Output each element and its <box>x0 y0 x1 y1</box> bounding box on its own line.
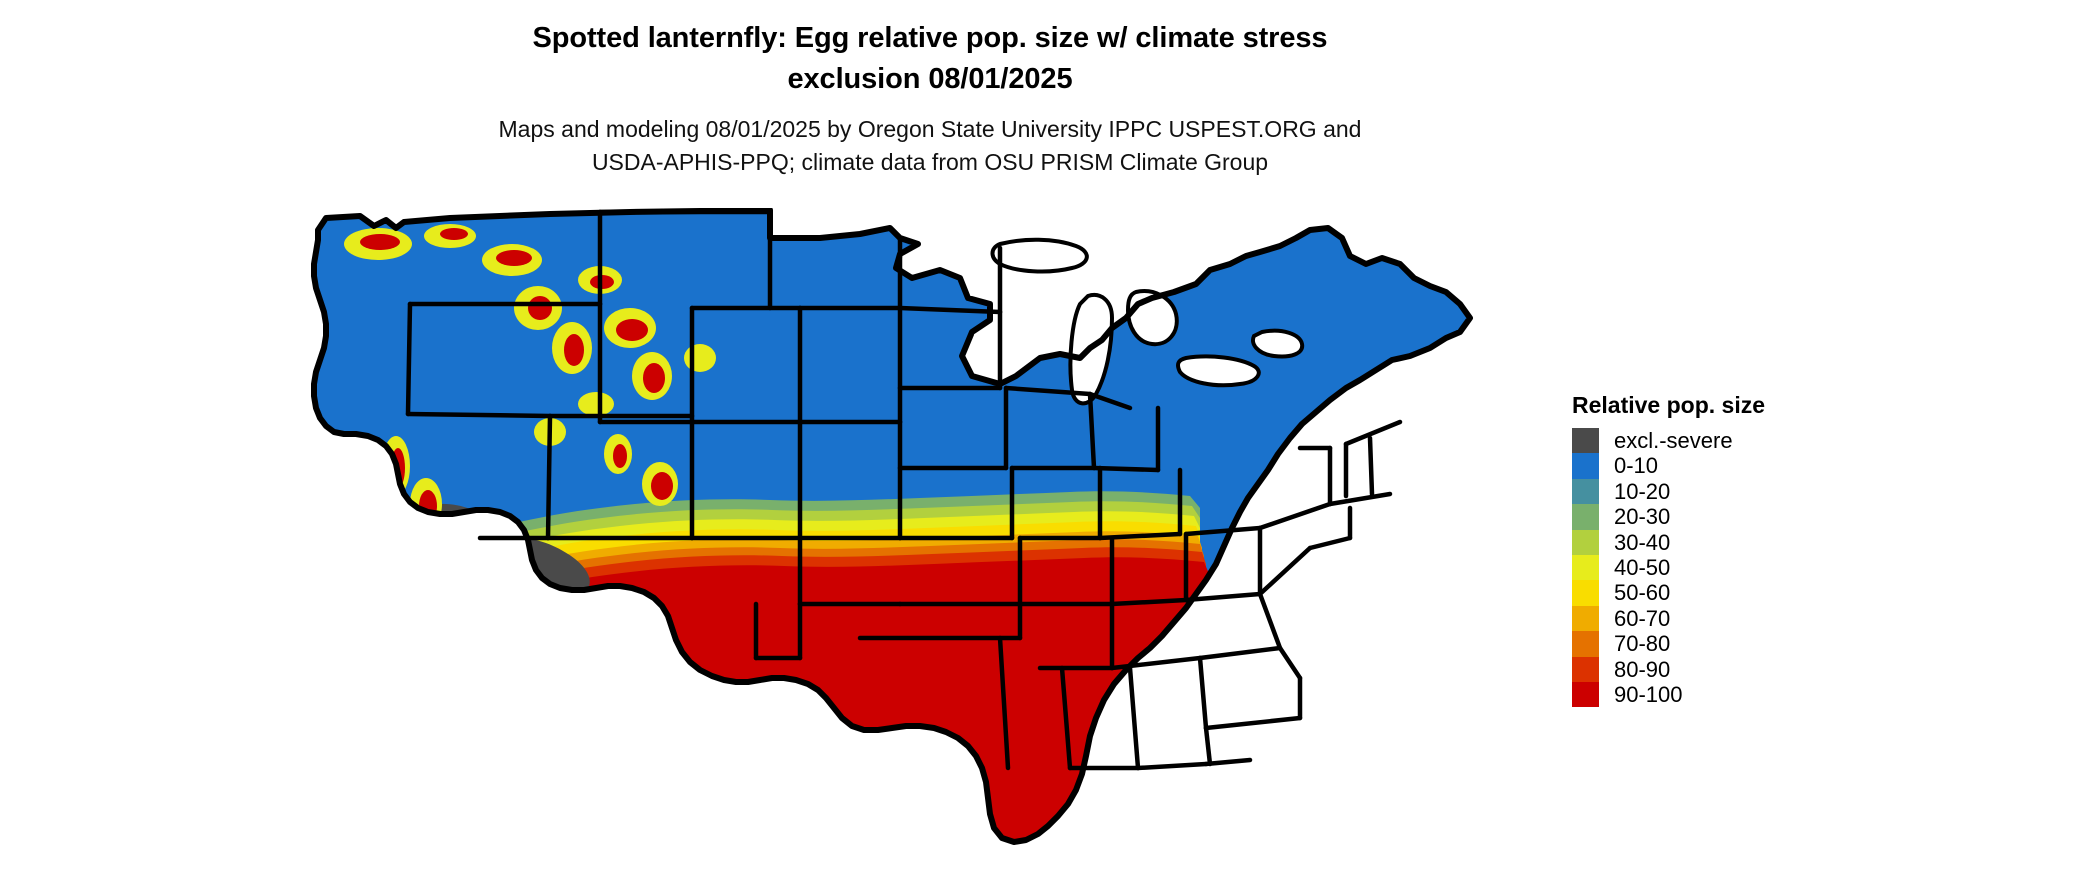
legend-entry-label: 90-100 <box>1614 682 1683 707</box>
lake-superior <box>993 240 1087 272</box>
legend-entry: 80-90 <box>1572 657 1765 682</box>
legend-entry: 90-100 <box>1572 682 1765 707</box>
legend-entry-label: 70-80 <box>1614 631 1670 656</box>
legend-color-swatch <box>1572 606 1599 631</box>
legend-color-swatch <box>1572 428 1599 453</box>
legend-title: Relative pop. size <box>1572 392 1765 419</box>
legend-color-swatch <box>1572 453 1599 478</box>
legend-entry: 70-80 <box>1572 631 1765 656</box>
band-90-100 <box>464 557 1210 848</box>
legend-entry-label: 30-40 <box>1614 530 1670 555</box>
us-choropleth-map <box>300 208 1560 888</box>
legend-entry-label: 20-30 <box>1614 504 1670 529</box>
legend-entry-label: 80-90 <box>1614 657 1670 682</box>
map-legend: Relative pop. size excl.-severe0-1010-20… <box>1572 392 1765 707</box>
legend-entry-label: 60-70 <box>1614 606 1670 631</box>
map-svg <box>300 208 1560 888</box>
legend-entry: 20-30 <box>1572 504 1765 529</box>
legend-color-swatch <box>1572 504 1599 529</box>
legend-entry-label: 50-60 <box>1614 580 1670 605</box>
title-block: Spotted lanternfly: Egg relative pop. si… <box>0 18 1860 179</box>
legend-color-swatch <box>1572 657 1599 682</box>
legend-color-swatch <box>1572 580 1599 605</box>
legend-entry: 0-10 <box>1572 453 1765 478</box>
legend-entry-label: 40-50 <box>1614 555 1670 580</box>
legend-color-swatch <box>1572 682 1599 707</box>
legend-color-swatch <box>1572 530 1599 555</box>
legend-entry-label: 10-20 <box>1614 479 1670 504</box>
legend-entry-label: 0-10 <box>1614 453 1658 478</box>
page-subtitle: Maps and modeling 08/01/2025 by Oregon S… <box>0 113 1860 179</box>
legend-entry: 50-60 <box>1572 580 1765 605</box>
legend-entry: 30-40 <box>1572 530 1765 555</box>
lake-erie <box>1178 356 1259 385</box>
legend-entry-list: excl.-severe0-1010-2020-3030-4040-5050-6… <box>1572 428 1765 707</box>
legend-entry-label: excl.-severe <box>1614 428 1733 453</box>
page-title: Spotted lanternfly: Egg relative pop. si… <box>0 18 1860 100</box>
legend-color-swatch <box>1572 479 1599 504</box>
legend-color-swatch <box>1572 631 1599 656</box>
legend-entry: 40-50 <box>1572 555 1765 580</box>
legend-entry: 60-70 <box>1572 606 1765 631</box>
map-figure-page: Spotted lanternfly: Egg relative pop. si… <box>0 0 2100 892</box>
legend-entry: excl.-severe <box>1572 428 1765 453</box>
legend-entry: 10-20 <box>1572 479 1765 504</box>
legend-color-swatch <box>1572 555 1599 580</box>
lake-ontario <box>1253 331 1302 357</box>
